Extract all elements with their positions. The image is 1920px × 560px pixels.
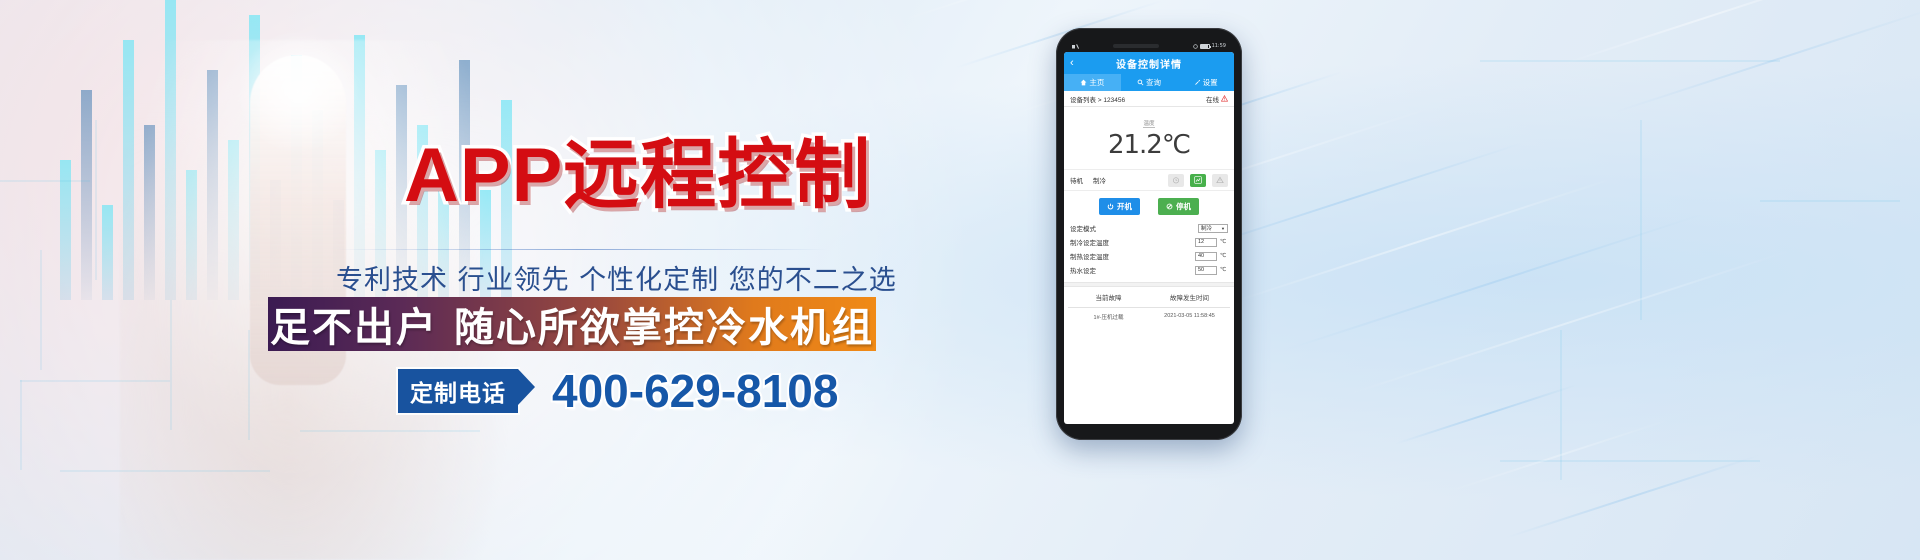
- mode-state: 制冷: [1093, 175, 1106, 185]
- page-title: APP远程控制: [404, 138, 871, 214]
- page-subtitle: 专利技术 行业领先 个性化定制 您的不二之选: [336, 258, 832, 297]
- light-streak: [1505, 455, 1760, 539]
- chart-icon-button[interactable]: [1190, 174, 1206, 187]
- timer-icon-button[interactable]: [1168, 174, 1184, 187]
- tel-number[interactable]: 400-629-8108: [552, 368, 838, 414]
- screen-bottom-space: [1064, 326, 1234, 336]
- light-streak: [1395, 383, 1579, 445]
- marketing-text-block: APP远程控制 专利技术 行业领先 个性化定制 您的不二之选 足不出户 随心所欲…: [0, 0, 1060, 560]
- app-tab-bar: 主页 查询 设置: [1064, 74, 1234, 91]
- setting-label-mode: 设定模式: [1070, 223, 1198, 233]
- banner-stage: APP远程控制 专利技术 行业领先 个性化定制 您的不二之选 足不出户 随心所欲…: [0, 0, 1920, 560]
- chevron-down-icon: ▼: [1221, 226, 1225, 231]
- tab-settings[interactable]: 设置: [1177, 74, 1234, 91]
- mode-select-value: 制冷: [1201, 224, 1212, 232]
- signal-icon: [1072, 44, 1080, 49]
- search-icon: [1137, 79, 1144, 86]
- app-title-text: 设备控制详情: [1116, 56, 1182, 71]
- power-icon: [1107, 203, 1114, 210]
- stop-button-label: 停机: [1176, 201, 1191, 212]
- fault-time: 2021-03-05 11:58:45: [1149, 308, 1230, 326]
- hotwater-input[interactable]: 50: [1195, 266, 1217, 275]
- setting-label-cool-temp: 制冷设定温度: [1070, 237, 1195, 247]
- stop-button[interactable]: 停机: [1158, 198, 1199, 215]
- setting-label-heat-temp: 制热设定温度: [1070, 251, 1195, 261]
- settings-form: 设定模式 制冷 ▼ 制冷设定温度 12 ℃: [1064, 221, 1234, 277]
- breadcrumb-path[interactable]: 设备列表 > 123456: [1070, 94, 1125, 104]
- tel-label-tag: 定制电话: [398, 369, 518, 413]
- mode-select[interactable]: 制冷 ▼: [1198, 224, 1228, 233]
- hotwater-unit: ℃: [1220, 267, 1228, 273]
- breadcrumb: 设备列表 > 123456 在线: [1064, 91, 1234, 107]
- status-badge: 在线: [1206, 94, 1228, 104]
- setting-control-cool-temp: 12 ℃: [1195, 238, 1228, 247]
- temperature-label: 温度: [1143, 119, 1154, 128]
- circuit-line: [1480, 60, 1780, 62]
- start-button-label: 开机: [1117, 201, 1132, 212]
- title-divider: [336, 249, 828, 250]
- heat-temp-input[interactable]: 40: [1195, 252, 1217, 261]
- fault-col-time: 故障发生时间: [1149, 287, 1230, 307]
- tab-settings-label: 设置: [1203, 77, 1218, 88]
- state-row: 待机 制冷: [1064, 170, 1234, 191]
- tab-home-label: 主页: [1089, 77, 1104, 88]
- warning-triangle-icon: [1221, 95, 1228, 102]
- temperature-block: 温度 21.2℃: [1064, 107, 1234, 170]
- fault-table-header: 当前故障 故障发生时间: [1068, 287, 1230, 308]
- setting-control-heat-temp: 40 ℃: [1195, 252, 1228, 261]
- tagline-ribbon: 足不出户 随心所欲掌控冷水机组: [268, 297, 876, 351]
- fault-table: 当前故障 故障发生时间 1#-压机过载 2021-03-05 11:58:45: [1064, 287, 1234, 326]
- circuit-line: [1640, 120, 1642, 320]
- alarm-icon: [1216, 176, 1224, 184]
- cool-temp-unit: ℃: [1220, 239, 1228, 245]
- setting-row-mode: 设定模式 制冷 ▼: [1070, 221, 1228, 235]
- cool-temp-input[interactable]: 12: [1195, 238, 1217, 247]
- phone-speaker: [1113, 44, 1159, 48]
- start-button[interactable]: 开机: [1099, 198, 1140, 215]
- phone-status-bar: 11:59: [1064, 40, 1234, 52]
- alarm-icon-button[interactable]: [1212, 174, 1228, 187]
- location-icon: [1193, 44, 1198, 49]
- status-right-icons: 11:59: [1193, 43, 1226, 49]
- setting-row-heat-temp: 制热设定温度 40 ℃: [1070, 249, 1228, 263]
- wrench-icon: [1194, 79, 1201, 86]
- contact-row: 定制电话 400-629-8108: [398, 368, 838, 414]
- timer-icon: [1172, 176, 1180, 184]
- fault-name: 1#-压机过载: [1068, 308, 1149, 326]
- home-icon: [1080, 79, 1087, 86]
- status-badge-label: 在线: [1206, 94, 1219, 104]
- phone-mockup: 11:59 ‹ 设备控制详情 主页 查询 设置: [1056, 28, 1242, 440]
- chart-icon: [1194, 176, 1202, 184]
- table-row[interactable]: 1#-压机过载 2021-03-05 11:58:45: [1068, 308, 1230, 326]
- phone-screen: ‹ 设备控制详情 主页 查询 设置 设备列表 > 123456: [1064, 52, 1234, 424]
- circuit-line: [1560, 330, 1562, 480]
- light-streak: [1560, 0, 1850, 66]
- tagline-text: 足不出户 随心所欲掌控冷水机组: [270, 295, 874, 353]
- battery-icon: [1200, 44, 1210, 49]
- status-time: 11:59: [1212, 43, 1226, 49]
- tab-query-label: 查询: [1146, 77, 1161, 88]
- light-streak: [1230, 178, 1613, 304]
- heat-temp-unit: ℃: [1220, 253, 1228, 259]
- power-button-row: 开机 停机: [1064, 191, 1234, 221]
- run-state: 待机: [1070, 175, 1083, 185]
- status-left-icons: [1072, 44, 1080, 49]
- state-icon-group: [1168, 174, 1228, 187]
- setting-row-hotwater: 热水设定 50 ℃: [1070, 263, 1228, 277]
- tab-query[interactable]: 查询: [1121, 74, 1178, 91]
- stop-icon: [1166, 203, 1173, 210]
- fault-col-name: 当前故障: [1068, 287, 1149, 307]
- setting-label-hotwater: 热水设定: [1070, 265, 1195, 275]
- setting-control-hotwater: 50 ℃: [1195, 266, 1228, 275]
- temperature-value: 21.2℃: [1064, 130, 1234, 161]
- light-streak: [1340, 249, 1793, 398]
- chevron-left-icon[interactable]: ‹: [1070, 58, 1074, 69]
- app-header: ‹ 设备控制详情: [1064, 52, 1234, 74]
- tab-home[interactable]: 主页: [1064, 74, 1121, 91]
- circuit-line: [1760, 200, 1900, 202]
- setting-row-cool-temp: 制冷设定温度 12 ℃: [1070, 235, 1228, 249]
- setting-control-mode: 制冷 ▼: [1198, 224, 1228, 233]
